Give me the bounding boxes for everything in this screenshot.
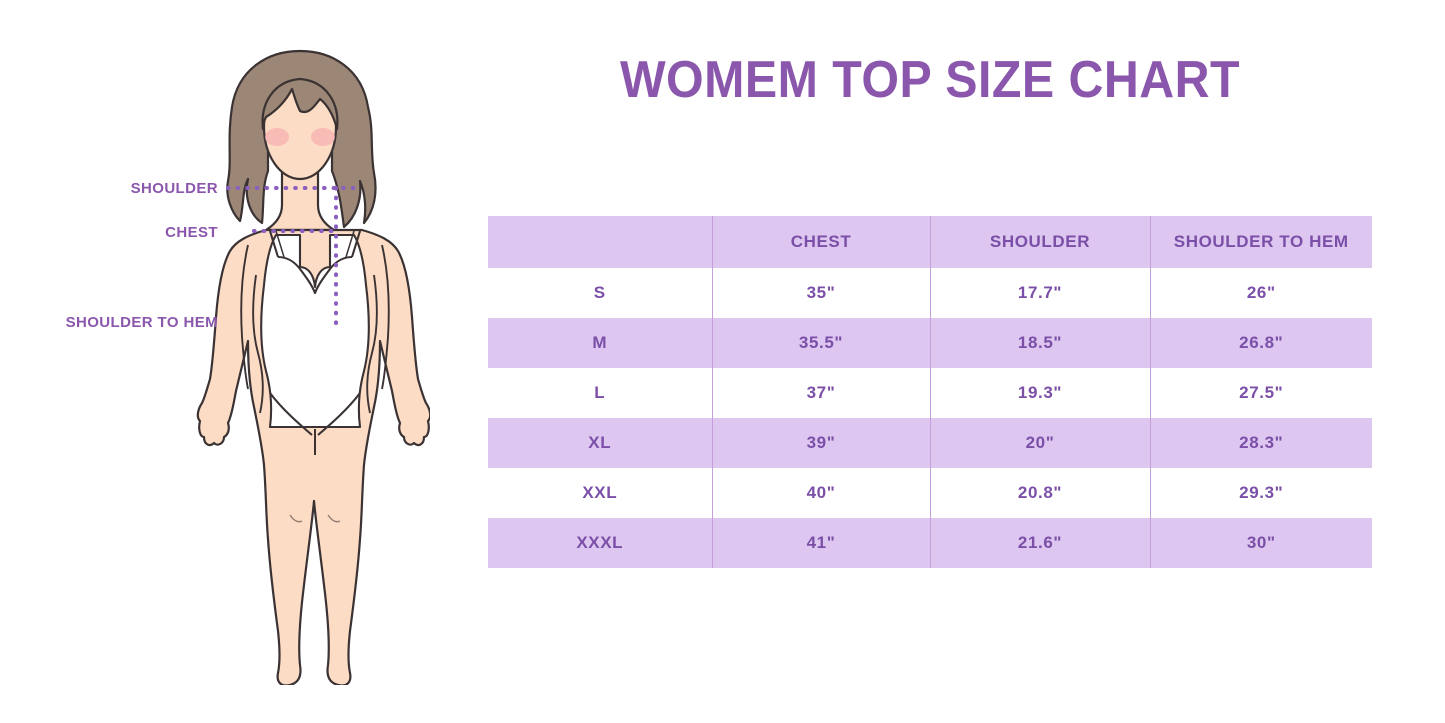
table-row: XL39"20"28.3"	[488, 418, 1372, 468]
shoulder-to-hem-cell: 28.3"	[1150, 418, 1372, 468]
size-cell: XXL	[488, 468, 712, 518]
page-title: WOMEM TOP SIZE CHART	[502, 50, 1358, 110]
size-cell: M	[488, 318, 712, 368]
size-chart-table: CHEST SHOULDER SHOULDER TO HEM S35"17.7"…	[488, 216, 1372, 568]
size-cell: L	[488, 368, 712, 418]
chest-cell: 41"	[712, 518, 930, 568]
label-shoulder-to-hem: SHOULDER TO HEM	[0, 314, 218, 331]
table-row: M35.5"18.5"26.8"	[488, 318, 1372, 368]
shoulder-to-hem-cell: 29.3"	[1150, 468, 1372, 518]
size-cell: XL	[488, 418, 712, 468]
shoulder-cell: 17.7"	[930, 268, 1150, 318]
shoulder-cell: 20.8"	[930, 468, 1150, 518]
header-shoulder-to-hem: SHOULDER TO HEM	[1150, 216, 1372, 268]
table-row: XXXL41"21.6"30"	[488, 518, 1372, 568]
header-shoulder: SHOULDER	[930, 216, 1150, 268]
shoulder-to-hem-cell: 26.8"	[1150, 318, 1372, 368]
shoulder-to-hem-cell: 27.5"	[1150, 368, 1372, 418]
blush-left	[265, 128, 289, 146]
shoulder-to-hem-cell: 26"	[1150, 268, 1372, 318]
chest-cell: 40"	[712, 468, 930, 518]
header-chest: CHEST	[712, 216, 930, 268]
size-cell: S	[488, 268, 712, 318]
chest-cell: 37"	[712, 368, 930, 418]
table-header-row: CHEST SHOULDER SHOULDER TO HEM	[488, 216, 1372, 268]
chest-cell: 39"	[712, 418, 930, 468]
table-row: S35"17.7"26"	[488, 268, 1372, 318]
label-shoulder: SHOULDER	[0, 180, 218, 197]
label-chest: CHEST	[0, 224, 218, 241]
size-cell: XXXL	[488, 518, 712, 568]
shoulder-cell: 19.3"	[930, 368, 1150, 418]
blush-right	[311, 128, 335, 146]
body-figure-illustration	[170, 45, 430, 685]
chest-cell: 35.5"	[712, 318, 930, 368]
table-row: L37"19.3"27.5"	[488, 368, 1372, 418]
shoulder-cell: 20"	[930, 418, 1150, 468]
table-row: XXL40"20.8"29.3"	[488, 468, 1372, 518]
header-size	[488, 216, 712, 268]
chest-cell: 35"	[712, 268, 930, 318]
shoulder-cell: 18.5"	[930, 318, 1150, 368]
shoulder-to-hem-cell: 30"	[1150, 518, 1372, 568]
shoulder-cell: 21.6"	[930, 518, 1150, 568]
